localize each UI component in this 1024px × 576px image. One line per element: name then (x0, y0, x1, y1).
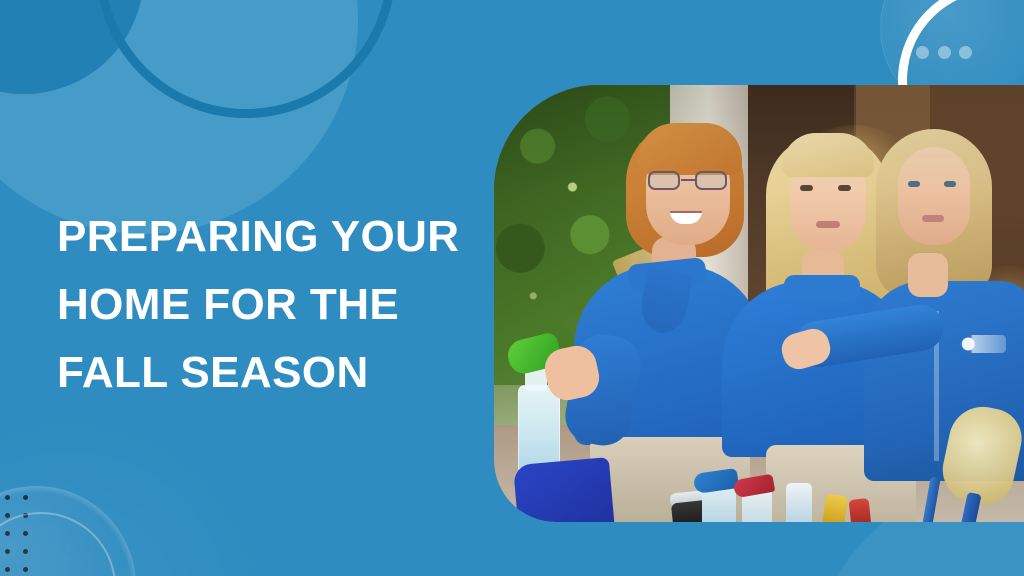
cleaner-right-face (898, 147, 970, 245)
page-title: PREPARING YOUR HOME FOR THE FALL SEASON (57, 203, 487, 407)
cleaner-center-eye-left (800, 185, 813, 191)
cleaner-right-eye-left (908, 181, 920, 187)
hero-photo (494, 85, 1024, 522)
cleaner-center-collar (784, 275, 860, 301)
cleaner-center-hair-front (782, 133, 874, 177)
supply-cap-yellow (822, 494, 848, 522)
cleaner-left-glasses (648, 171, 728, 191)
cleaner-right-eye-right (944, 181, 956, 187)
blog-banner: PREPARING YOUR HOME FOR THE FALL SEASON (0, 0, 1024, 576)
supply-cap-red (849, 498, 872, 522)
company-logo-badge (960, 335, 1006, 353)
photo-scene (494, 85, 1024, 522)
cleaner-right-lips (922, 215, 944, 222)
blue-cleaning-bag (513, 457, 619, 522)
cleaner-left-hair-front (638, 123, 742, 175)
cleaner-right-neck (908, 253, 948, 297)
cleaner-center-lips (816, 221, 840, 228)
supply-bottle (786, 483, 812, 522)
cleaner-center-eye-right (838, 185, 851, 191)
